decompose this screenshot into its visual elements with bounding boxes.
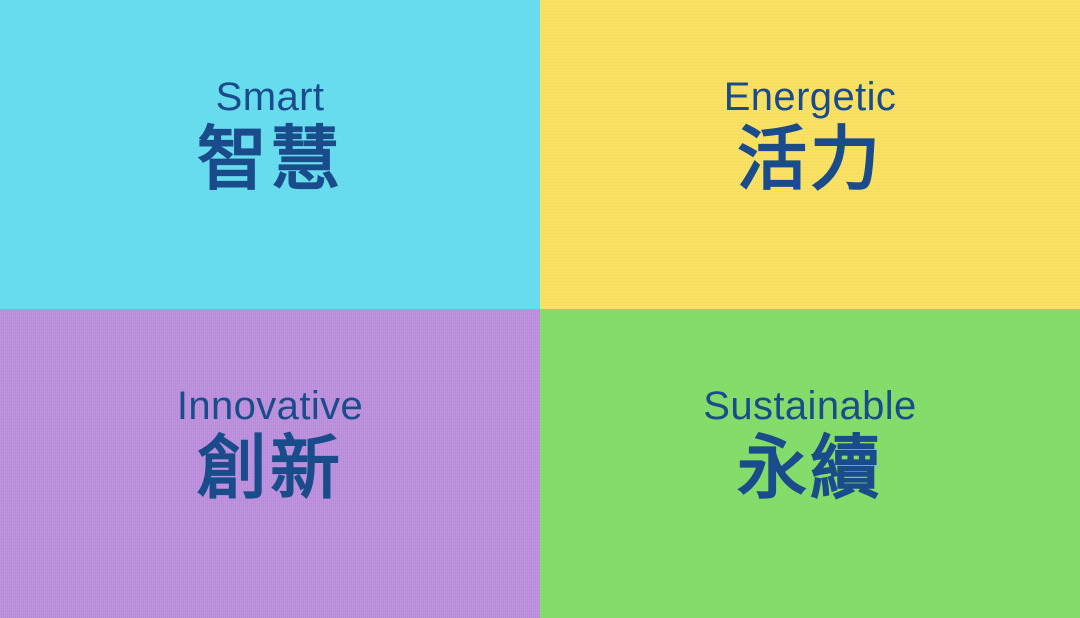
panel-innovative[interactable]: Innovative 創新 bbox=[0, 309, 540, 618]
panel-energetic-label-zh: 活力 bbox=[737, 122, 883, 198]
panel-sustainable-label-zh: 永續 bbox=[737, 431, 883, 507]
panel-innovative-label-en: Innovative bbox=[177, 385, 363, 427]
panel-smart-label-zh: 智慧 bbox=[197, 122, 343, 198]
panel-sustainable[interactable]: Sustainable 永續 bbox=[540, 309, 1080, 618]
panel-sustainable-label-en: Sustainable bbox=[703, 385, 916, 427]
panel-energetic[interactable]: Energetic 活力 bbox=[540, 0, 1080, 309]
brand-values-graphic: Smart 智慧 Energetic 活力 Innovative 創新 Sust… bbox=[0, 0, 1080, 618]
brand-values-grid: Smart 智慧 Energetic 活力 Innovative 創新 Sust… bbox=[0, 0, 1080, 618]
panel-energetic-label-en: Energetic bbox=[724, 76, 897, 118]
panel-energetic-content: Energetic 活力 bbox=[724, 76, 897, 198]
panel-innovative-label-zh: 創新 bbox=[197, 431, 343, 507]
panel-smart-content: Smart 智慧 bbox=[197, 76, 343, 198]
panel-smart[interactable]: Smart 智慧 bbox=[0, 0, 540, 309]
panel-innovative-content: Innovative 創新 bbox=[177, 385, 363, 507]
panel-sustainable-content: Sustainable 永續 bbox=[703, 385, 916, 507]
panel-smart-label-en: Smart bbox=[216, 76, 325, 118]
